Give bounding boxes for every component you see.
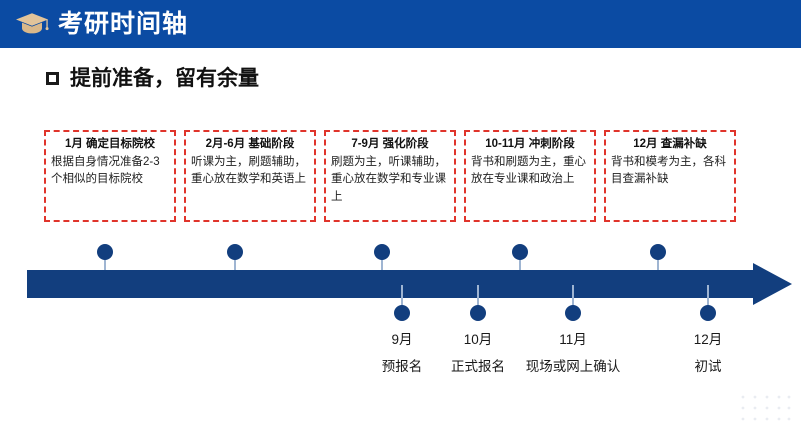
marker-dot xyxy=(470,305,486,321)
stage-card-title: 2月-6月 基础阶段 xyxy=(191,137,309,153)
marker-event-label: 正式报名 xyxy=(451,360,505,374)
stage-card-body: 背书和刷题为主，重心放在专业课和政治上 xyxy=(471,154,589,190)
marker-dot xyxy=(512,244,528,260)
stage-card-title: 1月 确定目标院校 xyxy=(51,137,169,153)
stage-card[interactable]: 10-11月 冲刺阶段 背书和刷题为主，重心放在专业课和政治上 xyxy=(464,130,596,222)
marker-month-label: 12月 xyxy=(694,333,723,347)
page-title: 考研时间轴 xyxy=(58,12,188,37)
stage-card-title: 7-9月 强化阶段 xyxy=(331,137,449,153)
marker-month-label: 9月 xyxy=(391,333,412,347)
header-bar: 考研时间轴 xyxy=(0,0,801,48)
stage-card-title: 12月 查漏补缺 xyxy=(611,137,729,153)
slide-canvas: 考研时间轴 提前准备，留有余量 1月 确定目标院校 根据自身情况准备2-3个相似… xyxy=(0,0,801,433)
marker-month-label: 11月 xyxy=(559,333,587,347)
subtitle-row: 提前准备，留有余量 xyxy=(46,68,259,89)
stage-card-body: 根据自身情况准备2-3个相似的目标院校 xyxy=(51,154,169,190)
stage-card-body: 背书和模考为主，各科目查漏补缺 xyxy=(611,154,729,190)
marker-dot xyxy=(394,305,410,321)
timeline-arrow xyxy=(27,263,792,305)
graduation-cap-icon xyxy=(14,10,50,38)
stage-card[interactable]: 2月-6月 基础阶段 听课为主，刷题辅助，重心放在数学和英语上 xyxy=(184,130,316,222)
marker-event-label: 现场或网上确认 xyxy=(526,360,621,374)
marker-dot xyxy=(565,305,581,321)
stage-card-list: 1月 确定目标院校 根据自身情况准备2-3个相似的目标院校 2月-6月 基础阶段… xyxy=(44,130,744,222)
timeline-arrow-shape xyxy=(27,263,792,305)
marker-event-label: 预报名 xyxy=(382,360,423,374)
corner-dots-decoration xyxy=(739,393,793,427)
marker-dot xyxy=(97,244,113,260)
marker-dot xyxy=(650,244,666,260)
stage-card[interactable]: 7-9月 强化阶段 刷题为主，听课辅助，重心放在数学和专业课上 xyxy=(324,130,456,222)
marker-dot xyxy=(227,244,243,260)
subtitle-text: 提前准备，留有余量 xyxy=(70,68,259,89)
marker-month-label: 10月 xyxy=(464,333,493,347)
stage-card-title: 10-11月 冲刺阶段 xyxy=(471,137,589,153)
stage-card[interactable]: 1月 确定目标院校 根据自身情况准备2-3个相似的目标院校 xyxy=(44,130,176,222)
stage-card[interactable]: 12月 查漏补缺 背书和模考为主，各科目查漏补缺 xyxy=(604,130,736,222)
square-bullet-icon xyxy=(46,72,59,85)
marker-dot xyxy=(374,244,390,260)
marker-event-label: 初试 xyxy=(695,360,722,374)
stage-card-body: 听课为主，刷题辅助，重心放在数学和英语上 xyxy=(191,154,309,190)
marker-dot xyxy=(700,305,716,321)
stage-card-body: 刷题为主，听课辅助，重心放在数学和专业课上 xyxy=(331,154,449,207)
